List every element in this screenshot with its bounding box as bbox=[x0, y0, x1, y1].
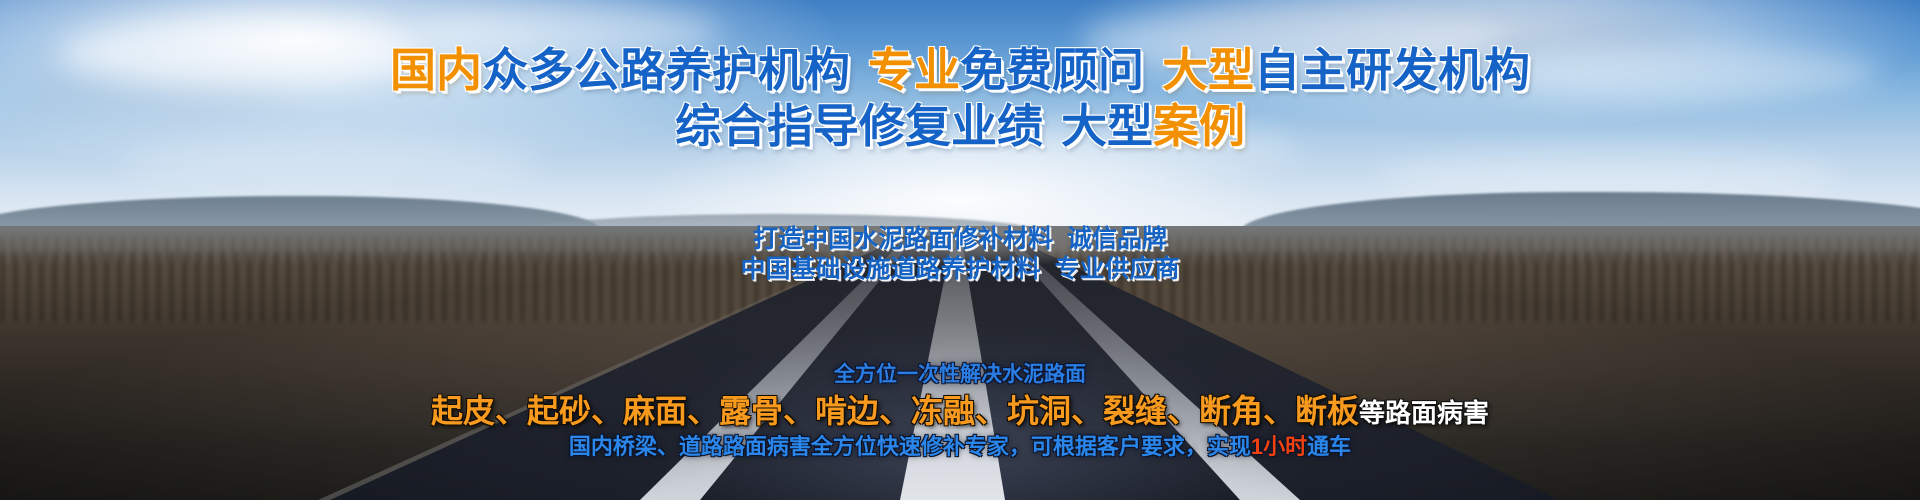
closing-highlight-hours: 1小时 bbox=[1251, 434, 1307, 459]
headline-seg-domestic: 国内 bbox=[390, 44, 482, 96]
disease-suffix: 等路面病害 bbox=[1359, 398, 1489, 428]
subhead-line-2: 中国基础设施道路养护材料专业供应商 bbox=[0, 254, 1920, 284]
subhead-material-text: 打造中国水泥路面修补材料 bbox=[753, 225, 1053, 253]
bottom-closing-line: 国内桥梁、道路路面病害全方位快速修补专家，可根据客户要求，实现1小时通车 bbox=[0, 434, 1920, 460]
disease-items: 起皮、起砂、麻面、露骨、啃边、冻融、坑洞、裂缝、断角、断板 bbox=[431, 393, 1359, 429]
headline-seg-agencies: 众多公路养护机构 bbox=[482, 44, 850, 96]
headline-seg-large-scale: 大型 bbox=[1162, 44, 1254, 96]
subhead-line-1: 打造中国水泥路面修补材料诚信品牌 bbox=[0, 224, 1920, 254]
headline-line-2: 综合指导修复业绩大型案例 bbox=[0, 100, 1920, 152]
headline-seg-professional: 专业 bbox=[868, 44, 960, 96]
headline-seg-guidance-results: 综合指导修复业绩 bbox=[675, 100, 1043, 152]
subhead-infrastructure-text: 中国基础设施道路养护材料 bbox=[740, 255, 1040, 283]
subhead-supplier-text: 专业供应商 bbox=[1055, 255, 1180, 283]
headline-line-1: 国内众多公路养护机构专业免费顾问大型自主研发机构 bbox=[0, 44, 1920, 96]
closing-text-a: 国内桥梁、道路路面病害全方位快速修补专家，可根据客户要求，实现 bbox=[569, 434, 1251, 459]
closing-text-b: 通车 bbox=[1307, 434, 1351, 459]
bottom-disease-list: 起皮、起砂、麻面、露骨、啃边、冻融、坑洞、裂缝、断角、断板等路面病害 bbox=[0, 392, 1920, 432]
banner-text-layer: 国内众多公路养护机构专业免费顾问大型自主研发机构 综合指导修复业绩大型案例 打造… bbox=[0, 0, 1920, 500]
headline-seg-large: 大型 bbox=[1061, 100, 1153, 152]
headline-seg-cases: 案例 bbox=[1153, 100, 1245, 152]
headline-seg-rnd-org: 自主研发机构 bbox=[1254, 44, 1530, 96]
headline-seg-free-consult: 免费顾问 bbox=[960, 44, 1144, 96]
promo-banner: 国内众多公路养护机构专业免费顾问大型自主研发机构 综合指导修复业绩大型案例 打造… bbox=[0, 0, 1920, 500]
bottom-tagline: 全方位一次性解决水泥路面 bbox=[0, 362, 1920, 388]
subhead-brand-text: 诚信品牌 bbox=[1067, 225, 1167, 253]
